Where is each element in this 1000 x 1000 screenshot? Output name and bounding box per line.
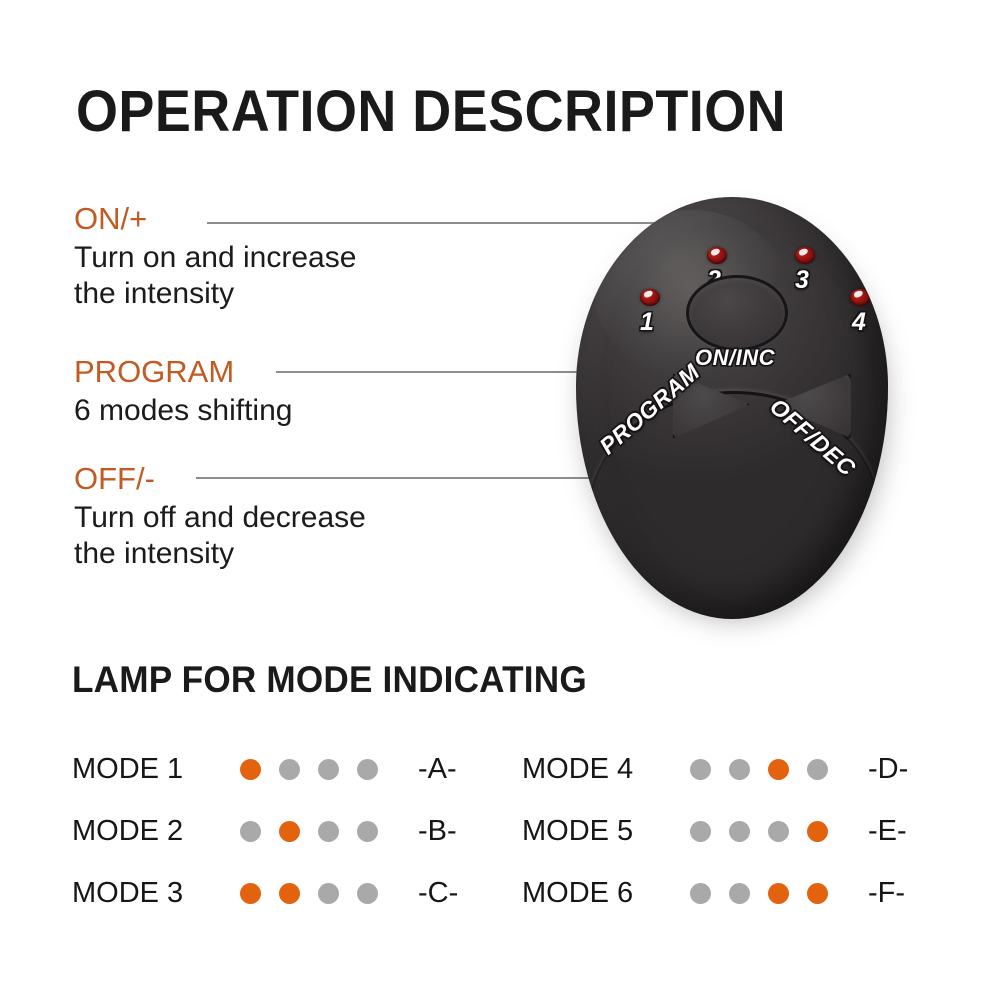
callout-off-line1: Turn off and decrease	[74, 500, 366, 537]
mode-column-right: MODE 4-D-MODE 5-E-MODE 6-F-	[522, 738, 908, 924]
infographic-page: OPERATION DESCRIPTION ON/+ Turn on and i…	[0, 0, 1000, 1000]
led-indicator-1	[640, 289, 660, 306]
device-body: 1 2 3 4 ON/INC PROGRAM OFF/DEC	[576, 197, 888, 619]
lamp-2-off	[729, 883, 750, 904]
lamp-3-off	[768, 821, 789, 842]
led-indicator-4	[850, 289, 870, 306]
mode-label: MODE 4	[522, 753, 690, 786]
mode-code: -F-	[868, 877, 905, 910]
callout-off-line2: the intensity	[74, 536, 366, 573]
mode-code: -B-	[418, 815, 457, 848]
lamp-3-off	[318, 883, 339, 904]
callout-off-title: OFF/-	[74, 463, 366, 496]
lamp-3-on	[768, 759, 789, 780]
lamp-4-on	[807, 821, 828, 842]
led-label-3: 3	[795, 268, 809, 293]
lamp-1-off	[240, 821, 261, 842]
lamp-4-off	[357, 883, 378, 904]
callout-off-description: Turn off and decrease the intensity	[74, 500, 366, 573]
mode-label: MODE 2	[72, 815, 240, 848]
led-label-4: 4	[852, 310, 866, 335]
lamp-2-off	[729, 821, 750, 842]
lamp-2-on	[279, 883, 300, 904]
led-label-1: 1	[640, 310, 654, 335]
mode-label: MODE 3	[72, 877, 240, 910]
lamp-4-off	[807, 759, 828, 780]
mode-code: -D-	[868, 753, 908, 786]
mode-row: MODE 5-E-	[522, 800, 908, 862]
callout-on-line2: the intensity	[74, 276, 356, 313]
lamp-strip	[690, 883, 850, 904]
lamp-1-off	[690, 821, 711, 842]
lamp-4-on	[807, 883, 828, 904]
mode-label: MODE 5	[522, 815, 690, 848]
led-indicator-3	[795, 247, 815, 264]
lamp-2-off	[279, 759, 300, 780]
mode-code: -E-	[868, 815, 907, 848]
lamp-2-off	[729, 759, 750, 780]
callout-program: PROGRAM 6 modes shifting	[74, 356, 292, 429]
callout-program-description: 6 modes shifting	[74, 393, 292, 430]
lamp-strip	[690, 821, 850, 842]
callout-on-description: Turn on and increase the intensity	[74, 240, 356, 313]
lamp-3-off	[318, 759, 339, 780]
lamp-3-on	[768, 883, 789, 904]
mode-code: -C-	[418, 877, 458, 910]
callout-off: OFF/- Turn off and decrease the intensit…	[74, 463, 366, 573]
mode-label: MODE 6	[522, 877, 690, 910]
callout-program-line1: 6 modes shifting	[74, 393, 292, 430]
lamp-1-on	[240, 883, 261, 904]
device-illustration: 1 2 3 4 ON/INC PROGRAM OFF/DEC	[568, 193, 900, 629]
mode-row: MODE 3-C-	[72, 862, 458, 924]
callout-program-title: PROGRAM	[74, 356, 292, 389]
mode-row: MODE 6-F-	[522, 862, 908, 924]
mode-row: MODE 1-A-	[72, 738, 458, 800]
lamp-strip	[240, 883, 400, 904]
mode-label: MODE 1	[72, 753, 240, 786]
lamp-strip	[240, 759, 400, 780]
on-inc-button[interactable]	[686, 275, 788, 351]
lamp-2-on	[279, 821, 300, 842]
lamp-4-off	[357, 821, 378, 842]
page-title: OPERATION DESCRIPTION	[76, 78, 786, 145]
lamp-3-off	[318, 821, 339, 842]
lamp-1-on	[240, 759, 261, 780]
led-indicator-2	[707, 247, 727, 264]
mode-row: MODE 4-D-	[522, 738, 908, 800]
callout-on-line1: Turn on and increase	[74, 240, 356, 277]
mode-column-left: MODE 1-A-MODE 2-B-MODE 3-C-	[72, 738, 458, 924]
on-inc-button-label: ON/INC	[689, 345, 781, 371]
callout-on-title: ON/+	[74, 203, 356, 236]
mode-row: MODE 2-B-	[72, 800, 458, 862]
lamp-4-off	[357, 759, 378, 780]
lamp-1-off	[690, 759, 711, 780]
lamp-strip	[240, 821, 400, 842]
lamp-strip	[690, 759, 850, 780]
section-title-lamp-mode: LAMP FOR MODE INDICATING	[72, 659, 587, 701]
callout-on: ON/+ Turn on and increase the intensity	[74, 203, 356, 313]
lamp-1-off	[690, 883, 711, 904]
mode-code: -A-	[418, 753, 457, 786]
